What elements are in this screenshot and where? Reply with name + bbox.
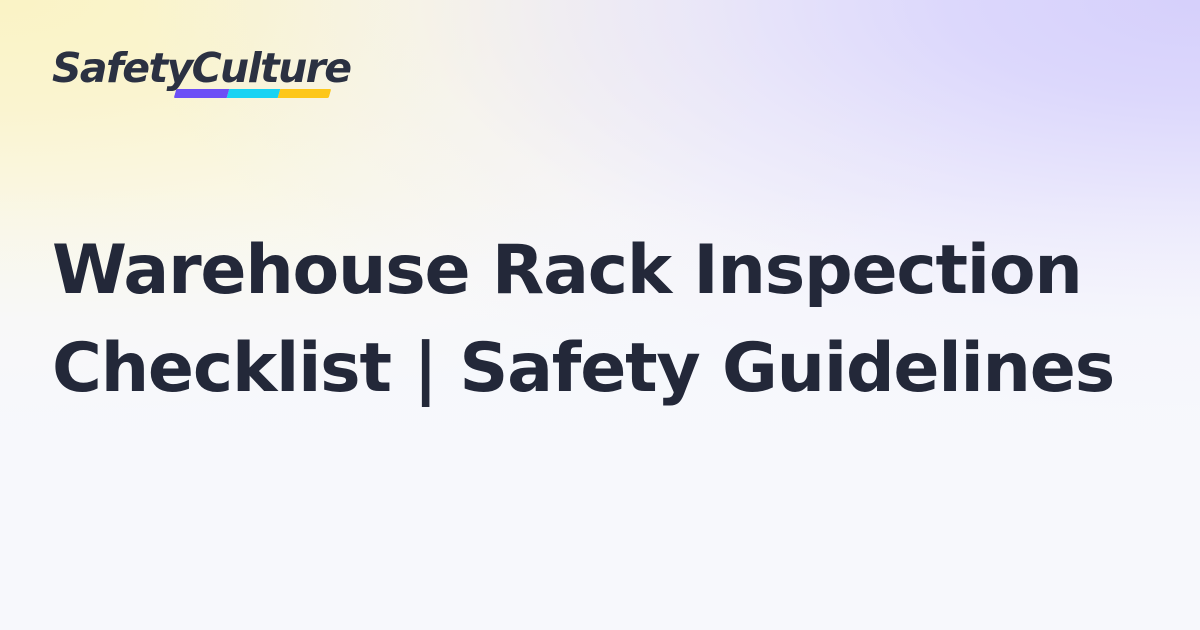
logo-wordmark: SafetyCulture <box>52 48 342 89</box>
page-title-line-2: Checklist | Safety Guidelines <box>52 320 1112 418</box>
logo-underline-segment-purple <box>174 89 229 98</box>
logo-underline-segment-cyan <box>226 89 280 98</box>
page-title: Warehouse Rack Inspection Checklist | Sa… <box>52 222 1112 418</box>
page-title-line-1: Warehouse Rack Inspection <box>52 222 1112 320</box>
logo-underline-bar <box>174 89 332 98</box>
safetyculture-logo[interactable]: SafetyCulture <box>52 48 342 108</box>
social-share-card: SafetyCulture Warehouse Rack Inspection … <box>0 0 1200 630</box>
logo-underline-segment-yellow <box>278 89 332 98</box>
